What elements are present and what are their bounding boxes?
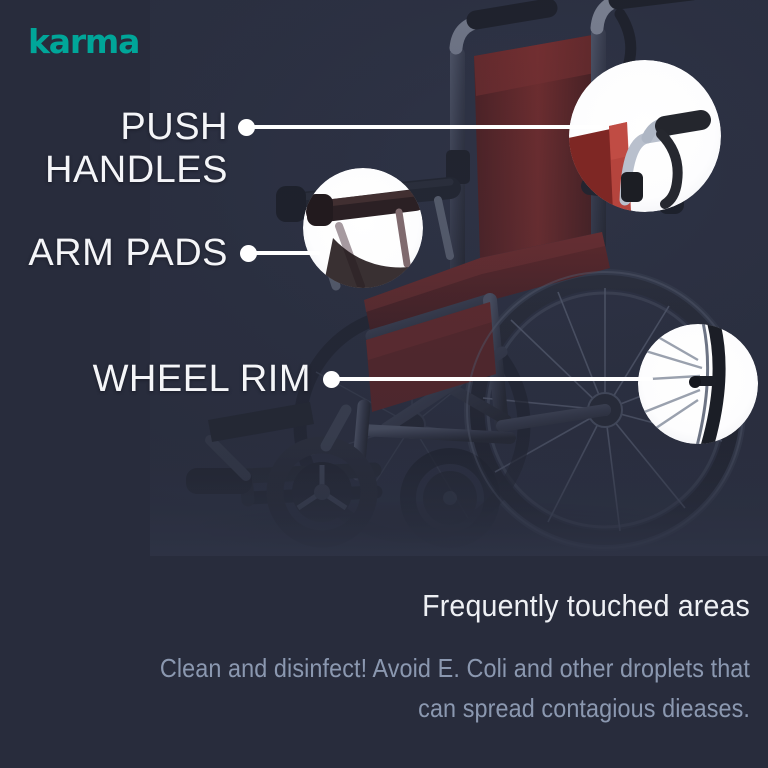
leader-line-wheel-rim — [333, 377, 653, 381]
leader-dot-arm-pads — [240, 245, 257, 262]
leader-dot-push-handles — [238, 119, 255, 136]
leader-line-push-handles — [247, 125, 603, 129]
callout-circle-arm-pads — [303, 168, 423, 288]
callout-label-wheel-rim: WHEEL RIM — [0, 358, 311, 401]
infographic-canvas: PUSH HANDLES ARM PADS WHEEL RIM karma Fr… — [0, 0, 768, 768]
footer-subcopy-line-2: can spread contagious dieases. — [84, 688, 750, 728]
leader-dot-wheel-rim — [323, 371, 340, 388]
callout-circle-push-handles — [569, 60, 721, 212]
callout-label-arm-pads: ARM PADS — [0, 232, 228, 275]
footer-subcopy-line-1: Clean and disinfect! Avoid E. Coli and o… — [84, 648, 750, 688]
footer-subcopy: Clean and disinfect! Avoid E. Coli and o… — [84, 648, 750, 728]
karma-logo: karma — [28, 22, 139, 61]
leader-line-arm-pads — [250, 251, 320, 255]
callout-circle-wheel-rim — [638, 324, 758, 444]
callout-label-push-handles: PUSH HANDLES — [0, 106, 228, 192]
footer-headline: Frequently touched areas — [69, 588, 750, 624]
